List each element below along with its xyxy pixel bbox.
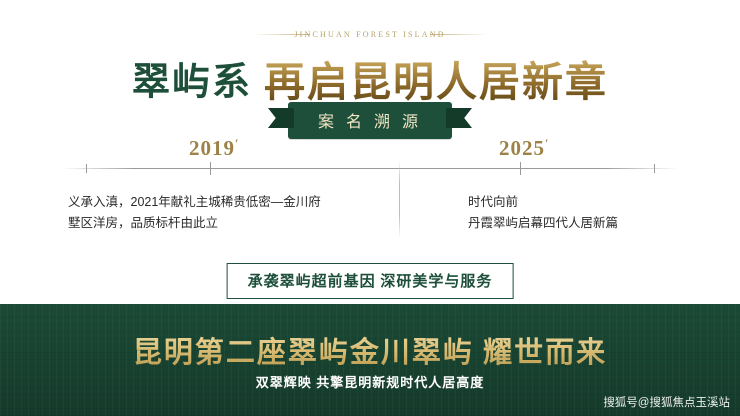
- milestone-2019-line-1: 义承入滇，2021年献礼主城稀贵低密—金川府: [68, 192, 321, 213]
- milestone-2025-line-2: 丹霞翠屿启幕四代人居新篇: [468, 213, 618, 234]
- footer-subtitle: 双翠辉映 共擎昆明新规时代人居高度: [0, 372, 740, 391]
- ribbon-label: 案 名 溯 源: [288, 102, 452, 139]
- milestone-year-2025-value: 2025: [499, 136, 545, 160]
- ribbon-banner: 案 名 溯 源: [0, 102, 740, 139]
- timeline-cap-right: [654, 164, 655, 173]
- slogan-box: 承袭翠屿超前基因 深研美学与服务: [227, 263, 514, 299]
- milestone-2019-line-2: 墅区洋房，品质标杆由此立: [68, 213, 321, 234]
- milestone-2025-line-1: 时代向前: [468, 192, 618, 213]
- brand-rule-right: [430, 34, 488, 35]
- timeline-vertical-divider: [399, 160, 400, 238]
- footer-title: 昆明第二座翠屿金川翠屿 耀世而来: [0, 329, 740, 371]
- timeline-line: [62, 168, 678, 169]
- footer-panel: 昆明第二座翠屿金川翠屿 耀世而来 双翠辉映 共擎昆明新规时代人居高度 搜狐号@搜…: [0, 304, 740, 416]
- milestone-year-2019-value: 2019: [189, 136, 235, 160]
- page-title: 翠屿系再启昆明人居新章: [0, 48, 740, 108]
- poster-page: JINCHUAN FOREST ISLAND 翠屿系再启昆明人居新章 案 名 溯…: [0, 0, 740, 416]
- watermark-label: 搜狐号@搜狐焦点玉溪站: [603, 394, 730, 410]
- headline-green-text: 翠屿系: [132, 62, 252, 104]
- timeline-tick-2019: [210, 162, 211, 175]
- timeline-cap-left: [86, 164, 87, 173]
- milestone-year-2019: 2019′: [189, 136, 239, 161]
- milestone-text-2019: 义承入滇，2021年献礼主城稀贵低密—金川府 墅区洋房，品质标杆由此立: [68, 192, 321, 234]
- brand-english-label: JINCHUAN FOREST ISLAND: [0, 30, 740, 39]
- milestone-year-2019-mark: ′: [235, 136, 239, 150]
- headline-gold-text: 再启昆明人居新章: [264, 59, 608, 105]
- timeline-tick-2025: [520, 162, 521, 175]
- milestone-year-2025-mark: ′: [545, 136, 549, 150]
- milestone-year-2025: 2025′: [499, 136, 549, 161]
- timeline-axis: [62, 168, 678, 170]
- milestone-text-2025: 时代向前 丹霞翠屿启幕四代人居新篇: [468, 192, 618, 234]
